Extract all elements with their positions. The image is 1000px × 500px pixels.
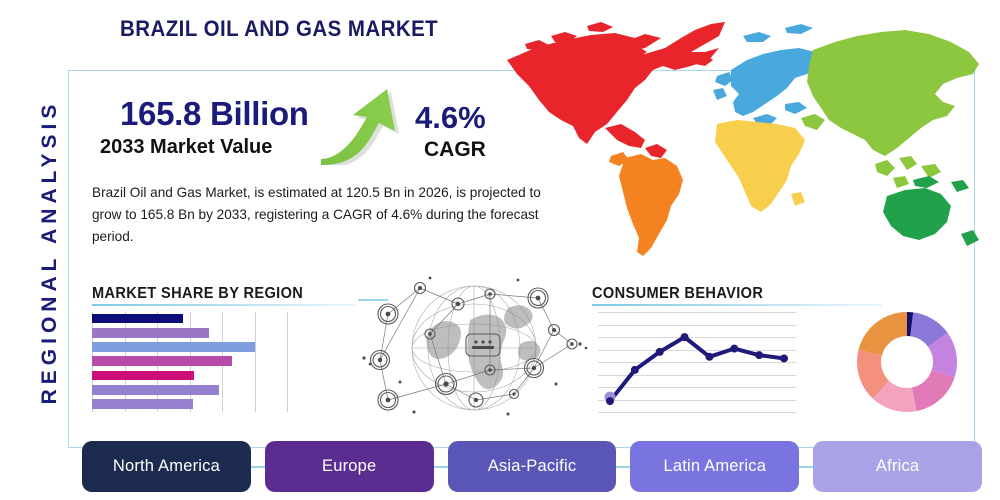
bar-item xyxy=(92,328,209,338)
map-region-north-america xyxy=(507,22,725,158)
region-button-africa[interactable]: Africa xyxy=(813,441,982,492)
market-share-bar-chart xyxy=(92,312,287,412)
bar-item xyxy=(92,314,183,324)
region-connector xyxy=(799,466,813,468)
section-title-market-share: MARKET SHARE BY REGION xyxy=(92,285,303,303)
bar-gridline xyxy=(255,312,256,412)
bar-item xyxy=(92,399,193,409)
map-region-asia xyxy=(801,30,979,188)
region-button-row: North AmericaEuropeAsia-PacificLatin Ame… xyxy=(82,441,982,492)
region-connector xyxy=(251,466,265,468)
region-button-asia-pacific[interactable]: Asia-Pacific xyxy=(448,441,617,492)
region-button-latin-america[interactable]: Latin America xyxy=(630,441,799,492)
growth-arrow-icon xyxy=(315,85,405,165)
global-network-illustration xyxy=(358,272,590,424)
line-marker xyxy=(780,354,788,362)
section-title-consumer-behavior: CONSUMER BEHAVIOR xyxy=(592,285,763,303)
section-rule-consumer-behavior xyxy=(592,304,882,306)
market-value-label: 2033 Market Value xyxy=(100,136,272,159)
cagr-label: CAGR xyxy=(424,138,486,162)
market-value: 165.8 Billion xyxy=(120,95,309,133)
line-marker xyxy=(755,351,763,359)
line-chart-series xyxy=(598,312,796,412)
bar-item xyxy=(92,356,232,366)
donut-chart xyxy=(852,306,962,418)
line-marker xyxy=(730,345,738,353)
line-gridline xyxy=(598,412,796,413)
bar-item xyxy=(92,371,194,381)
region-connector xyxy=(434,466,448,468)
bar-item xyxy=(92,385,219,395)
map-region-africa xyxy=(715,120,805,212)
page-title: BRAZIL OIL AND GAS MARKET xyxy=(120,16,438,42)
bar-gridline xyxy=(287,312,288,412)
map-region-south-america xyxy=(609,152,683,256)
region-button-europe[interactable]: Europe xyxy=(265,441,434,492)
side-label-regional-analysis: REGIONAL ANALYSIS xyxy=(38,52,62,452)
line-marker xyxy=(606,397,614,405)
region-connector xyxy=(616,466,630,468)
world-map xyxy=(495,8,995,270)
region-button-north-america[interactable]: North America xyxy=(82,441,251,492)
line-marker xyxy=(705,353,713,361)
line-marker xyxy=(656,348,664,356)
consumer-behavior-line-chart xyxy=(598,312,796,412)
cagr-value: 4.6% xyxy=(415,100,486,136)
donut-segment xyxy=(912,370,955,411)
line-marker xyxy=(631,366,639,374)
line-marker xyxy=(681,333,689,341)
infographic-root: BRAZIL OIL AND GAS MARKET REGIONAL ANALY… xyxy=(0,0,1000,500)
section-rule-market-share xyxy=(92,304,357,306)
bar-item xyxy=(92,342,255,352)
donut-segment xyxy=(859,312,907,356)
